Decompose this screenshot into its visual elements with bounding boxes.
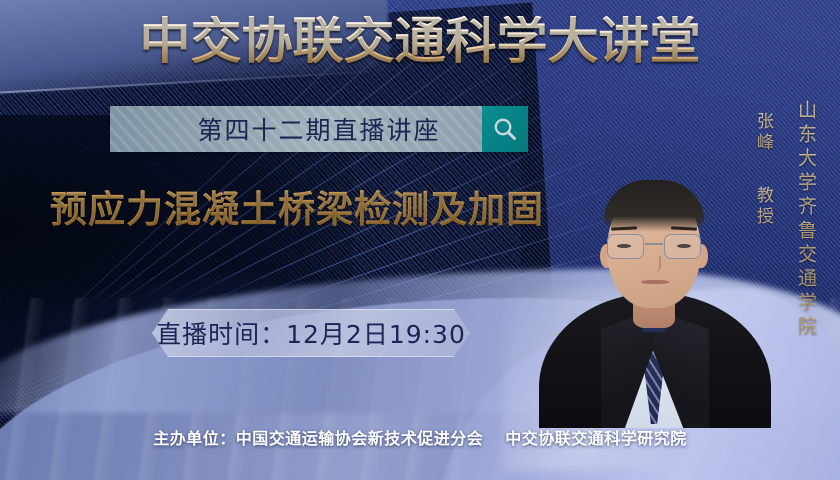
footer-organizers: 主办单位：中国交通运输协会新技术促进分会 中交协联交通科学研究院	[0, 425, 840, 449]
live-time-badge: 直播时间：12月2日19:30	[152, 309, 470, 357]
live-time-text: 直播时间：12月2日19:30	[156, 315, 466, 351]
glasses-lens-right	[664, 234, 701, 259]
portrait-nose	[649, 256, 661, 272]
footer-organizer-1: 中国交通运输协会新技术促进分会	[236, 425, 484, 449]
glasses-bridge	[645, 243, 663, 245]
speaker-academic-title: 教授	[751, 186, 776, 228]
portrait-hair	[604, 180, 704, 232]
main-title: 中交协联交通科学大讲堂	[0, 16, 840, 66]
live-lecture-poster: 中交协联交通科学大讲堂 中交协联交通科学大讲堂 第四十二期直播讲座 预应力混凝土…	[0, 0, 840, 480]
portrait-mouth	[641, 280, 669, 284]
glasses-lens-left	[607, 234, 644, 259]
footer-organizer-2: 中交协联交通科学研究院	[505, 425, 687, 449]
speaker-affiliation: 山东大学齐鲁交通学院	[793, 100, 820, 340]
speaker-portrait	[545, 98, 760, 428]
lecture-title: 预应力混凝土桥梁检测及加固	[50, 190, 544, 231]
footer-gap	[483, 429, 505, 448]
speaker-name: 张峰	[751, 112, 776, 154]
episode-banner-label: 第四十二期直播讲座	[151, 111, 440, 147]
footer-prefix: 主办单位：	[153, 425, 236, 449]
episode-banner-body: 第四十二期直播讲座	[110, 106, 482, 152]
episode-banner: 第四十二期直播讲座	[110, 106, 528, 152]
search-icon[interactable]	[482, 106, 528, 152]
